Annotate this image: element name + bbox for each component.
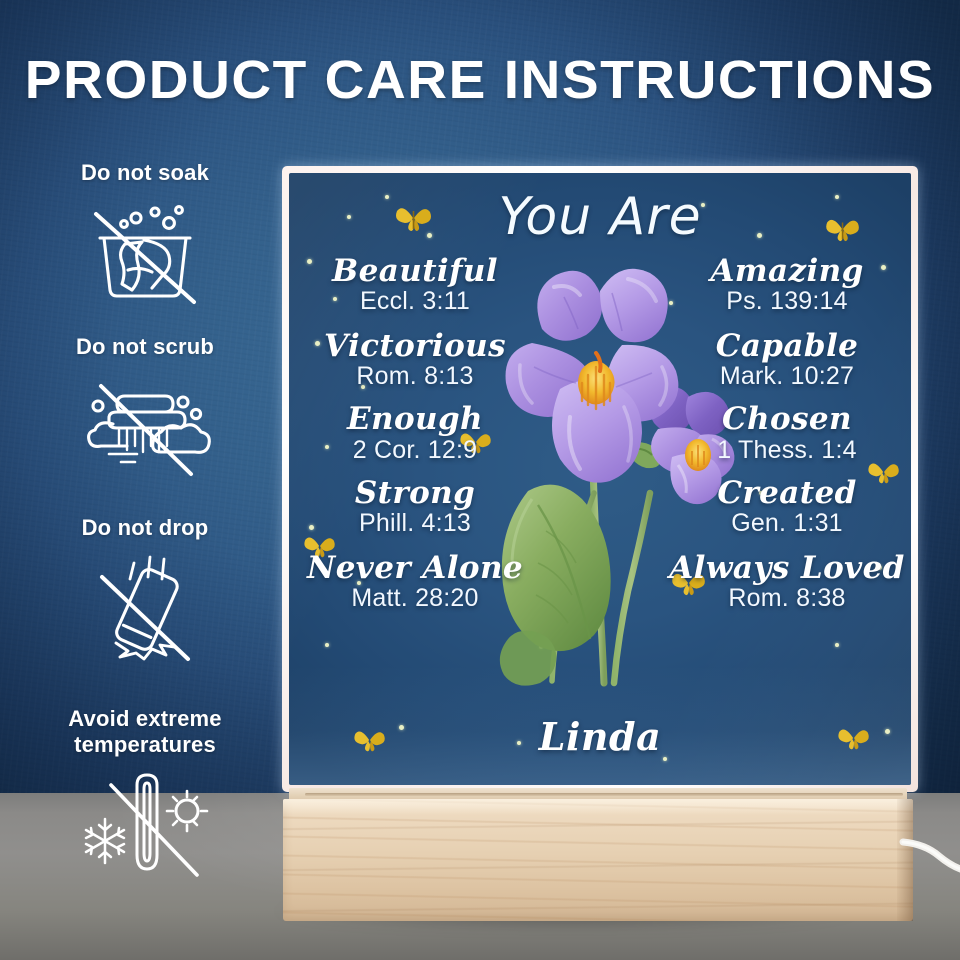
care-label-do-not-scrub: Do not scrub xyxy=(0,334,290,360)
care-label-line-1: Avoid extreme xyxy=(68,706,221,731)
attribute-reference: Matt. 28:20 xyxy=(295,584,535,614)
screenshot-root: PRODUCT CARE INSTRUCTIONS Do not soak xyxy=(0,0,960,960)
care-label-do-not-drop: Do not drop xyxy=(0,515,290,541)
care-item-avoid-extreme-temperatures: Avoid extreme temperatures xyxy=(0,706,290,883)
care-item-do-not-soak: Do not soak xyxy=(0,160,290,304)
no-scrub-icon xyxy=(0,366,290,478)
plaque-right-column: Amazing Ps. 139:14 Capable Mark. 10:27 C… xyxy=(667,255,907,622)
attribute-item: Chosen 1 Thess. 1:4 xyxy=(667,403,907,465)
sparkle-dot xyxy=(835,643,839,647)
base-body xyxy=(283,799,913,921)
attribute-reference: Rom. 8:38 xyxy=(667,584,907,614)
attribute-reference: Mark. 10:27 xyxy=(667,362,907,392)
attribute-item: Created Gen. 1:31 xyxy=(667,477,907,539)
plaque-headline: You Are xyxy=(289,187,911,247)
no-soak-icon xyxy=(0,192,290,304)
attribute-item: Strong Phill. 4:13 xyxy=(295,477,535,539)
attribute-word: Created xyxy=(667,477,907,509)
attribute-reference: Phill. 4:13 xyxy=(295,509,535,539)
attribute-word: Strong xyxy=(295,477,535,509)
attribute-word: Capable xyxy=(667,330,907,362)
care-item-do-not-drop: Do not drop xyxy=(0,515,290,665)
attribute-item: Always Loved Rom. 8:38 xyxy=(667,552,907,614)
personalized-name: Linda xyxy=(289,714,911,759)
acrylic-plaque: You Are Beautiful Eccl. 3:11 Victorious … xyxy=(282,166,918,796)
attribute-word: Victorious xyxy=(295,330,535,362)
plaque-face: You Are Beautiful Eccl. 3:11 Victorious … xyxy=(289,173,911,785)
attribute-item: Enough 2 Cor. 12:9 xyxy=(295,403,535,465)
sparkle-dot xyxy=(325,643,329,647)
attribute-word: Chosen xyxy=(667,403,907,435)
care-label-line-2: temperatures xyxy=(74,732,216,757)
attribute-word: Always Loved xyxy=(667,552,907,584)
no-extreme-temperature-icon xyxy=(0,763,290,883)
wood-grain-texture xyxy=(283,799,913,921)
wooden-led-base xyxy=(283,788,913,925)
attribute-item: Capable Mark. 10:27 xyxy=(667,330,907,392)
attribute-reference: 1 Thess. 1:4 xyxy=(667,436,907,466)
base-top-highlight xyxy=(283,799,913,815)
attribute-word: Beautiful xyxy=(295,255,535,287)
attribute-item: Beautiful Eccl. 3:11 xyxy=(295,255,535,317)
power-cord xyxy=(903,836,960,876)
care-label-do-not-soak: Do not soak xyxy=(0,160,290,186)
attribute-item: Never Alone Matt. 28:20 xyxy=(295,552,535,614)
attribute-reference: 2 Cor. 12:9 xyxy=(295,436,535,466)
attribute-reference: Ps. 139:14 xyxy=(667,287,907,317)
base-slot-groove xyxy=(305,793,903,796)
attribute-reference: Eccl. 3:11 xyxy=(295,287,535,317)
attribute-word: Amazing xyxy=(667,255,907,287)
no-drop-icon xyxy=(0,547,290,665)
care-instruction-list: Do not soak xyxy=(0,0,290,960)
attribute-word: Never Alone xyxy=(295,552,535,584)
attribute-reference: Rom. 8:13 xyxy=(295,362,535,392)
plaque-left-column: Beautiful Eccl. 3:11 Victorious Rom. 8:1… xyxy=(295,255,535,622)
attribute-item: Victorious Rom. 8:13 xyxy=(295,330,535,392)
attribute-word: Enough xyxy=(295,403,535,435)
care-item-do-not-scrub: Do not scrub xyxy=(0,334,290,478)
attribute-reference: Gen. 1:31 xyxy=(667,509,907,539)
attribute-item: Amazing Ps. 139:14 xyxy=(667,255,907,317)
care-label-avoid-extreme-temperatures: Avoid extreme temperatures xyxy=(0,706,290,757)
